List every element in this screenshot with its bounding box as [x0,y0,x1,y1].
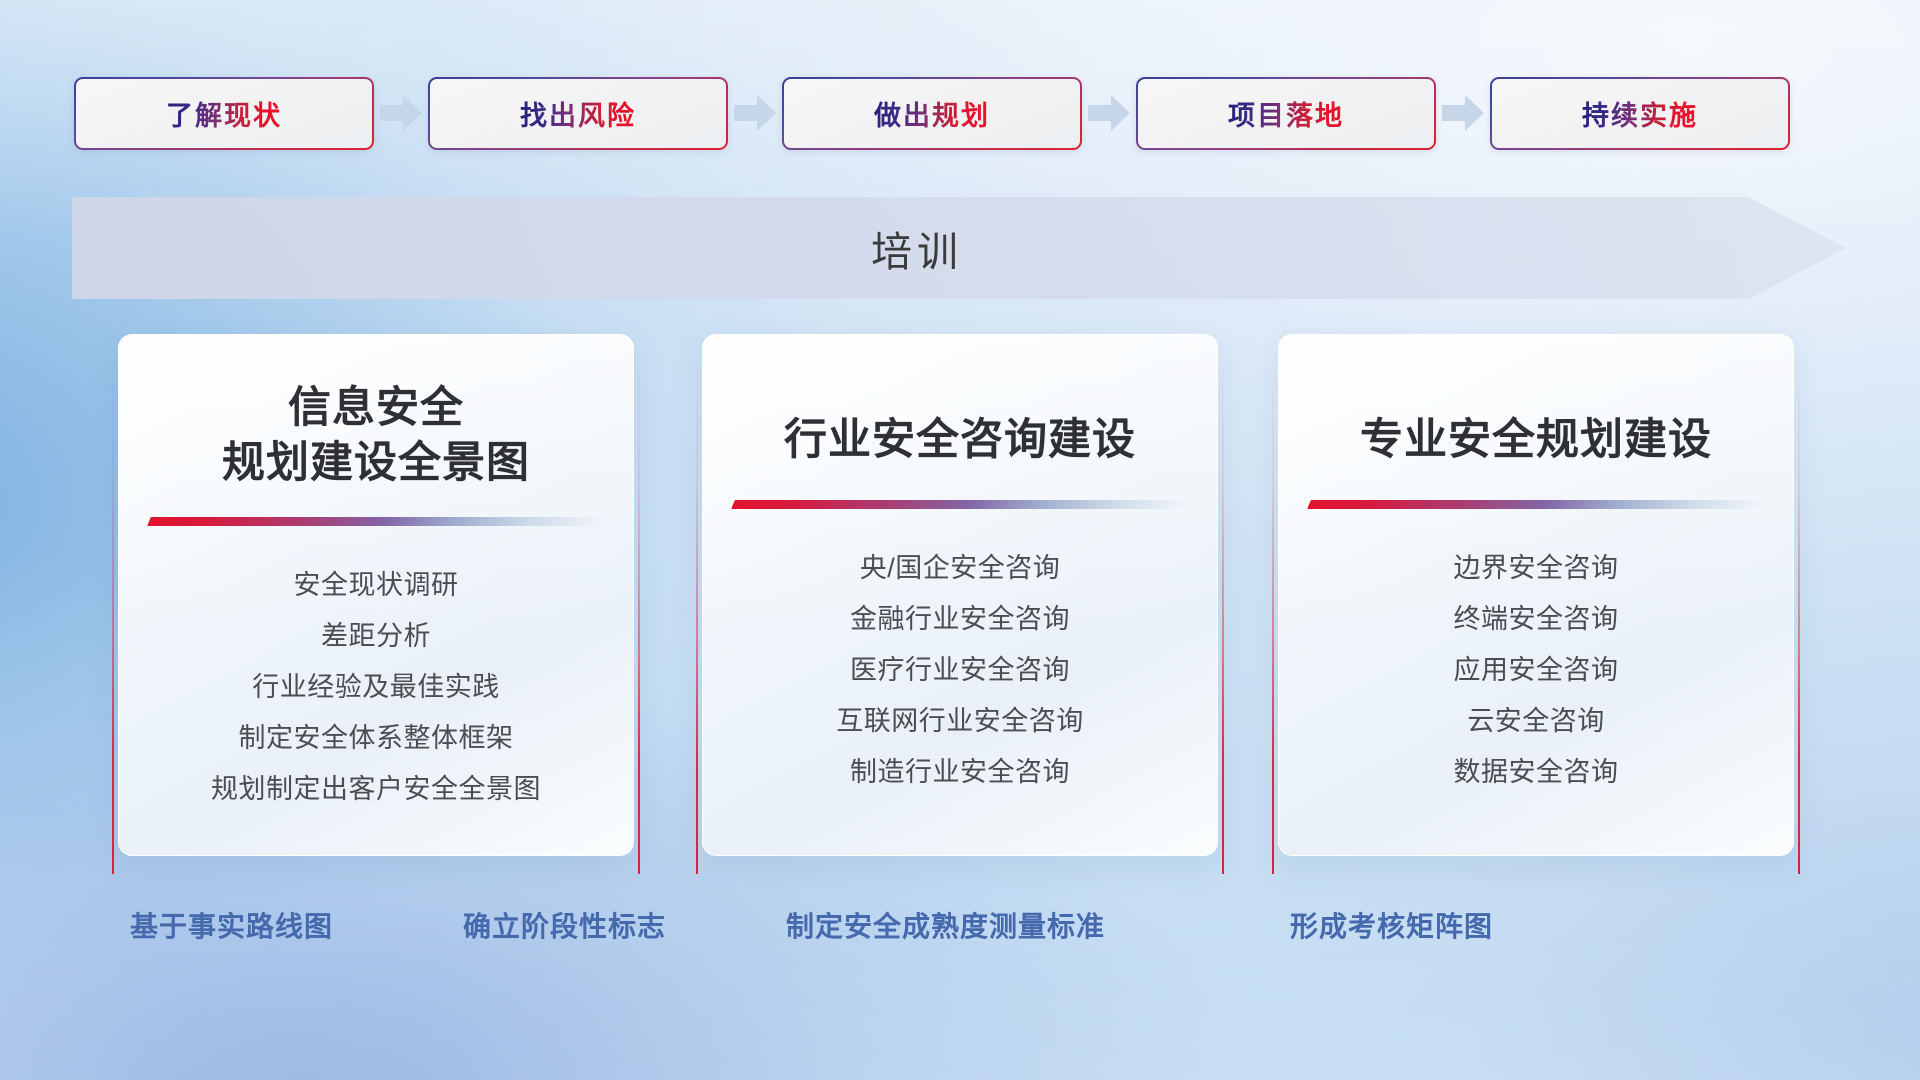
right-arrow-icon [1082,76,1136,150]
step-box-4[interactable]: 持续实施 [1490,77,1790,150]
list-item: 安全现状调研 [294,560,459,611]
step-label-1: 找出风险 [520,94,636,133]
step-wrap-0: 了解现状 [74,76,428,150]
card-item-list: 边界安全咨询 终端安全咨询 应用安全咨询 云安全咨询 数据安全咨询 [1279,543,1793,798]
list-item: 应用安全咨询 [1454,645,1619,696]
process-step-row: 了解现状 找出风险 做出规划 [0,76,1920,150]
card-left-red-accent [696,352,698,874]
card-divider [731,500,1190,509]
step-label-3: 项目落地 [1228,94,1344,133]
list-item: 互联网行业安全咨询 [836,696,1084,747]
card-body: 行业安全咨询建设 央/国企安全咨询 金融行业安全咨询 医疗行业安全咨询 互联网行… [702,334,1218,856]
list-item: 终端安全咨询 [1454,594,1619,645]
list-item: 边界安全咨询 [1454,543,1619,594]
card-left-red-accent [112,352,114,874]
card-divider [1307,500,1766,509]
list-item: 数据安全咨询 [1454,747,1619,798]
step-box-1[interactable]: 找出风险 [428,77,728,150]
step-wrap-3: 项目落地 [1136,76,1490,150]
card-row: 信息安全 规划建设全景图 安全现状调研 差距分析 行业经验及最佳实践 制定安全体… [0,334,1920,874]
step-label-2: 做出规划 [874,94,990,133]
card-right-red-accent [638,352,640,874]
right-arrow-icon [1436,76,1490,150]
step-inner-4: 持续实施 [1492,79,1788,148]
list-item: 差距分析 [321,611,431,662]
bottom-label-3: 形成考核矩阵图 [1290,905,1493,945]
card-professional-security-planning[interactable]: 专业安全规划建设 边界安全咨询 终端安全咨询 应用安全咨询 云安全咨询 数据安全… [1272,334,1800,874]
bottom-label-row: 基于事实路线图 确立阶段性标志 制定安全成熟度测量标准 形成考核矩阵图 [0,905,1920,965]
step-box-0[interactable]: 了解现状 [74,77,374,150]
list-item: 规划制定出客户安全全景图 [211,764,541,815]
step-label-4: 持续实施 [1582,94,1698,133]
bottom-label-2: 制定安全成熟度测量标准 [786,905,1105,945]
list-item: 央/国企安全咨询 [860,543,1061,594]
card-item-list: 央/国企安全咨询 金融行业安全咨询 医疗行业安全咨询 互联网行业安全咨询 制造行… [703,543,1217,798]
step-inner-2: 做出规划 [784,79,1080,148]
step-wrap-1: 找出风险 [428,76,782,150]
card-item-list: 安全现状调研 差距分析 行业经验及最佳实践 制定安全体系整体框架 规划制定出客户… [119,560,633,815]
card-body: 信息安全 规划建设全景图 安全现状调研 差距分析 行业经验及最佳实践 制定安全体… [118,334,634,856]
step-box-2[interactable]: 做出规划 [782,77,1082,150]
step-wrap-2: 做出规划 [782,76,1136,150]
card-title: 信息安全 规划建设全景图 [222,381,530,491]
training-banner: 培训 [72,197,1846,299]
step-wrap-4: 持续实施 [1490,77,1790,150]
bottom-label-0: 基于事实路线图 [130,905,333,945]
card-right-red-accent [1798,352,1800,874]
bottom-label-1: 确立阶段性标志 [463,905,666,945]
card-left-red-accent [1272,352,1274,874]
list-item: 云安全咨询 [1467,696,1605,747]
card-right-red-accent [1222,352,1224,874]
banner-label: 培训 [72,197,1762,299]
card-title: 行业安全咨询建设 [784,413,1136,468]
step-inner-3: 项目落地 [1138,79,1434,148]
step-inner-1: 找出风险 [430,79,726,148]
list-item: 制定安全体系整体框架 [239,713,514,764]
step-label-0: 了解现状 [166,94,282,133]
list-item: 金融行业安全咨询 [850,594,1070,645]
right-arrow-icon [374,76,428,150]
card-divider [147,517,606,526]
list-item: 医疗行业安全咨询 [850,645,1070,696]
step-inner-0: 了解现状 [76,79,372,148]
list-item: 制造行业安全咨询 [850,747,1070,798]
step-box-3[interactable]: 项目落地 [1136,77,1436,150]
card-information-security[interactable]: 信息安全 规划建设全景图 安全现状调研 差距分析 行业经验及最佳实践 制定安全体… [112,334,640,874]
right-arrow-icon [728,76,782,150]
card-industry-security-consulting[interactable]: 行业安全咨询建设 央/国企安全咨询 金融行业安全咨询 医疗行业安全咨询 互联网行… [696,334,1224,874]
card-body: 专业安全规划建设 边界安全咨询 终端安全咨询 应用安全咨询 云安全咨询 数据安全… [1278,334,1794,856]
card-title: 专业安全规划建设 [1360,413,1712,468]
list-item: 行业经验及最佳实践 [252,662,500,713]
